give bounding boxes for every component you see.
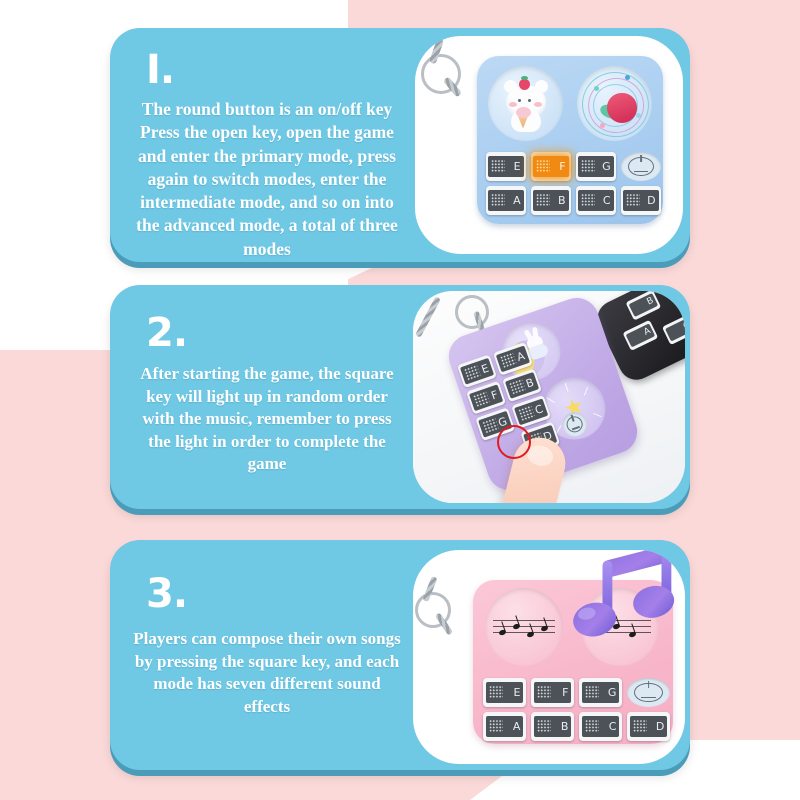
key-D[interactable]: D <box>621 186 661 215</box>
key-F[interactable]: F <box>531 678 574 707</box>
card-1-description: The round button is an on/off key Press … <box>128 98 406 261</box>
key-label: B <box>558 195 566 206</box>
key-label: F <box>490 389 500 401</box>
card-3-product-photo: E F G A B C D <box>413 550 685 764</box>
card-1-product-photo: E F G A B C D <box>415 36 683 254</box>
power-button-highlight-annotation <box>497 425 531 459</box>
screen-bear-sticker <box>488 66 563 141</box>
card-3-step-number: 3. <box>146 574 406 614</box>
key-label: B <box>524 376 535 389</box>
power-button[interactable] <box>621 152 661 181</box>
card-2-description: After starting the game, the square key … <box>128 363 406 476</box>
card-2-text-column: 2. After starting the game, the square k… <box>110 285 420 509</box>
black-device-key: C <box>662 314 685 345</box>
power-button[interactable] <box>627 678 670 707</box>
key-label: F <box>562 687 568 698</box>
card-2-step-number: 2. <box>146 313 406 353</box>
blue-game-device: E F G A B C D <box>477 56 663 224</box>
key-C[interactable]: C <box>579 712 622 741</box>
power-icon <box>634 683 663 703</box>
key-E[interactable]: E <box>486 152 526 181</box>
key-label: C <box>603 195 611 206</box>
purple-music-note-graphic <box>573 550 685 648</box>
device-1-screen-row <box>488 66 652 141</box>
key-label: C <box>533 403 544 416</box>
key-E[interactable]: E <box>483 678 526 707</box>
black-device-key: B <box>626 291 662 321</box>
key-label: E <box>513 687 520 698</box>
key-G[interactable]: G <box>576 152 616 181</box>
card-1-text-column: I. The round button is an on/off key Pre… <box>110 28 420 262</box>
strawberry-swirl-icon <box>577 66 652 141</box>
key-B[interactable]: B <box>531 186 571 215</box>
instruction-card-1: I. The round button is an on/off key Pre… <box>110 28 690 262</box>
key-label: A <box>513 721 521 732</box>
device-1-keypad: E F G A B C D <box>486 152 661 215</box>
key-label: A <box>515 350 526 363</box>
card-1-photo-scene: E F G A B C D <box>415 36 683 254</box>
keychain-chain-icon <box>415 296 441 338</box>
bear-icon <box>497 80 555 134</box>
key-C[interactable]: C <box>576 186 616 215</box>
key-A[interactable]: A <box>483 712 526 741</box>
card-3-description: Players can compose their own songs by p… <box>128 628 406 718</box>
screen-strawberry-sticker <box>577 66 652 141</box>
power-icon <box>628 157 655 177</box>
instruction-card-2: 2. After starting the game, the square k… <box>110 285 690 509</box>
key-label: F <box>559 161 565 172</box>
key-label: D <box>656 721 664 732</box>
key-G[interactable]: G <box>579 678 622 707</box>
key-F-lit[interactable]: F <box>531 152 571 181</box>
keyring-icon <box>455 295 489 329</box>
instruction-card-3: 3. Players can compose their own songs b… <box>110 540 690 770</box>
key-D[interactable]: D <box>627 712 670 741</box>
key-label: A <box>513 195 521 206</box>
key-B[interactable]: B <box>531 712 574 741</box>
card-2-photo-scene: B A C <box>413 291 685 503</box>
card-2-product-photo: B A C <box>413 291 685 503</box>
key-label: C <box>609 721 617 732</box>
key-label: B <box>561 721 569 732</box>
card-3-text-column: 3. Players can compose their own songs b… <box>110 540 420 770</box>
key-A[interactable]: A <box>486 186 526 215</box>
black-device-key: A <box>623 320 659 351</box>
key-label: E <box>514 161 521 172</box>
device-3-keypad: E F G A B C D <box>483 678 670 741</box>
power-icon <box>564 414 585 435</box>
key-label: D <box>647 195 655 206</box>
music-notes-icon <box>493 610 555 648</box>
key-label: G <box>602 161 611 172</box>
screen-music-notes-sticker <box>485 588 563 666</box>
card-1-step-number: I. <box>146 50 406 90</box>
key-label: G <box>608 687 617 698</box>
card-3-photo-scene: E F G A B C D <box>413 550 685 764</box>
key-label: E <box>480 362 490 375</box>
